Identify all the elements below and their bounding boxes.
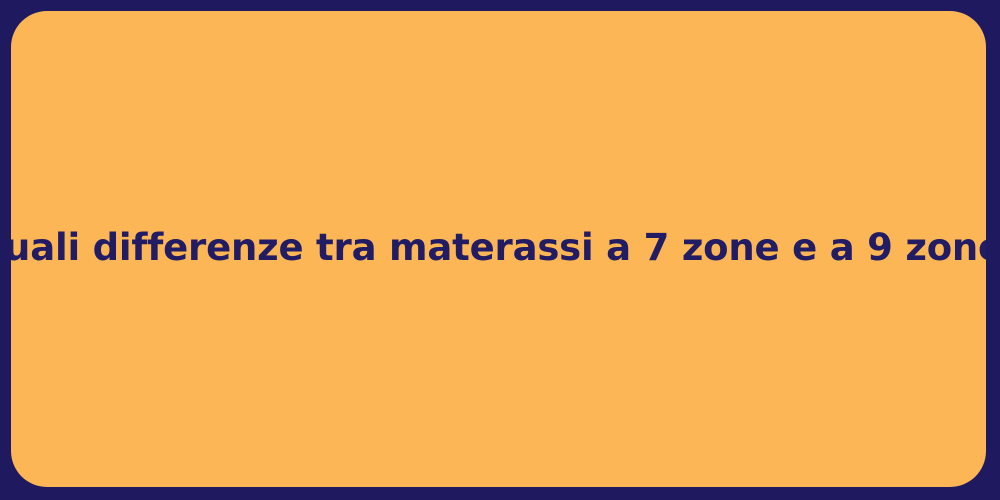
- banner-frame: Quali differenze tra materassi a 7 zone …: [0, 0, 1000, 500]
- banner-card: Quali differenze tra materassi a 7 zone …: [11, 11, 986, 487]
- banner-headline: Quali differenze tra materassi a 7 zone …: [11, 226, 986, 270]
